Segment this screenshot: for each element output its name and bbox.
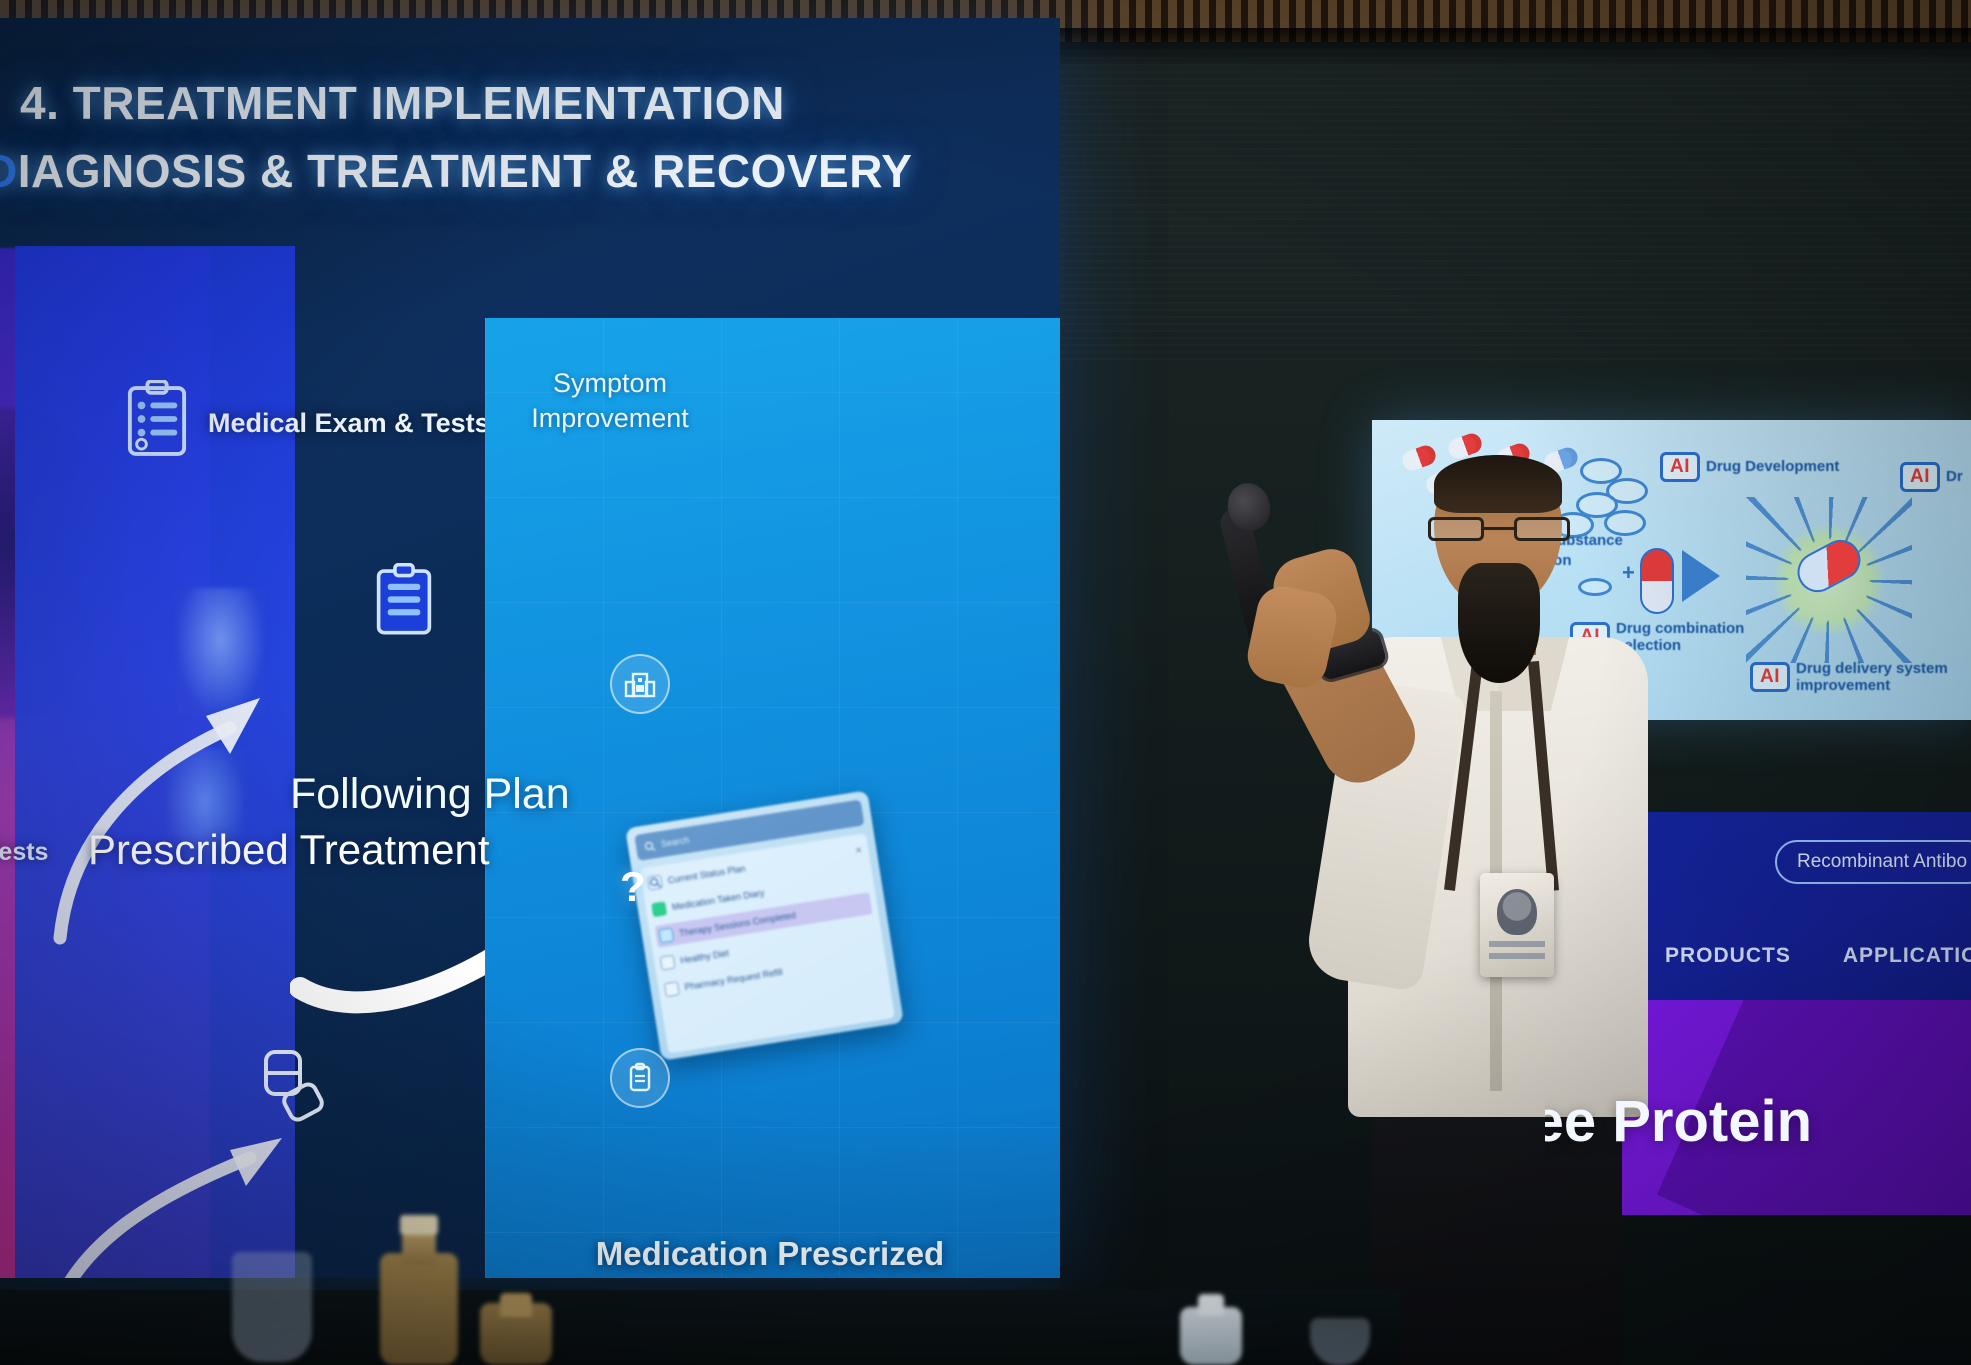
slide-caption: Medication Prescrized Recovery & Follow-… xyxy=(560,1233,980,1278)
glasses-bridge xyxy=(1484,527,1514,530)
presenter-id-badge xyxy=(1480,873,1554,977)
water-bottle xyxy=(380,1215,458,1365)
label-symptom-line1: Symptom xyxy=(505,366,715,401)
ai-badge: AI xyxy=(1900,462,1940,492)
conference-room-scene: 4. TREATMENT IMPLEMENTATION DIAGNOSIS & … xyxy=(0,0,1971,1365)
bottle-neck xyxy=(1198,1294,1224,1316)
glass-body xyxy=(1310,1318,1370,1365)
search-icon xyxy=(647,875,663,891)
ai-badge: AI xyxy=(1660,452,1700,482)
bottle-neck xyxy=(402,1231,436,1265)
ai-badge: AI xyxy=(1750,662,1790,692)
lens-right xyxy=(1514,517,1570,541)
label-prescribed-treatment: Prescribed Treatment xyxy=(88,826,490,874)
clipboard-small-icon xyxy=(610,1048,670,1108)
label-following-plan: Following Plan xyxy=(290,770,570,819)
bottle-neck xyxy=(500,1293,532,1317)
runner-figure-1 xyxy=(175,588,265,718)
recombinant-antibody-tag[interactable]: Recombinant Antibo xyxy=(1775,840,1971,884)
caption-line1: Medication Prescrized xyxy=(560,1233,980,1276)
drinking-glass xyxy=(1310,1318,1370,1365)
lens-left xyxy=(1428,517,1484,541)
hospital-building-icon xyxy=(610,654,670,714)
search-icon xyxy=(643,840,656,853)
ai-label-text: Drug delivery system improvement xyxy=(1796,660,1956,695)
photo-grid-overlay xyxy=(485,318,1060,1278)
slide-title-line2-rest: IAGNOSIS & TREATMENT & RECOVERY xyxy=(18,145,913,197)
label-symptom-improvement: Symptom Improvement xyxy=(505,366,715,435)
nav-item-applications[interactable]: APPLICATIONS xyxy=(1843,944,1971,968)
presenter-hair xyxy=(1434,455,1562,513)
tablet-device[interactable]: Search Current Status Plan ✕ Medication … xyxy=(625,790,904,1060)
water-bottle xyxy=(480,1285,552,1365)
label-medical-exam-tests: Medical Exam & Tests xyxy=(208,408,490,439)
banner-title: ree Protein xyxy=(1545,1088,1812,1155)
wall-texture xyxy=(1060,30,1971,360)
tablet-search-placeholder: Search xyxy=(660,835,690,849)
close-icon[interactable]: ✕ xyxy=(854,844,863,856)
ai-label-partial: AI Dr xyxy=(1900,462,1963,492)
slide-title-line1: 4. TREATMENT IMPLEMENTATION xyxy=(20,76,1020,130)
ai-label-text: Dr xyxy=(1946,468,1963,485)
ai-label-text: Drug Development xyxy=(1706,458,1839,475)
caption-line2: Recovery & Follow-up xyxy=(560,1276,980,1278)
slide-title-line2: DIAGNOSIS & TREATMENT & RECOVERY xyxy=(0,144,1020,198)
pill-capsule-icon xyxy=(260,1048,330,1128)
clipboard-small-icon xyxy=(375,563,433,637)
label-question-mark: ? xyxy=(620,863,646,911)
main-projection-screen: 4. TREATMENT IMPLEMENTATION DIAGNOSIS & … xyxy=(0,18,1060,1278)
checkbox-empty-icon[interactable] xyxy=(664,981,680,997)
checkbox-empty-icon[interactable] xyxy=(660,955,676,971)
slide-title-accent-letter: D xyxy=(0,145,18,197)
bottle-cap xyxy=(400,1215,438,1235)
bottle-body xyxy=(380,1253,458,1365)
arrow-right-icon xyxy=(1682,550,1720,602)
ai-label-drug-development: AI Drug Development xyxy=(1660,452,1839,482)
presenter-person xyxy=(1330,455,1650,1365)
clipboard-checklist-icon xyxy=(126,380,188,458)
eyeglasses-icon xyxy=(1426,517,1574,543)
drinking-glass xyxy=(232,1252,306,1365)
tablet-checklist[interactable]: Current Status Plan ✕ Medication Taken D… xyxy=(640,833,895,1054)
label-symptom-line2: Improvement xyxy=(505,401,715,436)
presenter-beard xyxy=(1458,563,1540,683)
ai-label-drug-delivery: AI Drug delivery system improvement xyxy=(1750,660,1956,695)
glass-body xyxy=(232,1252,312,1362)
slide-title: 4. TREATMENT IMPLEMENTATION DIAGNOSIS & … xyxy=(20,76,1020,198)
patient-photo-card xyxy=(485,318,1060,1278)
nav-item-products[interactable]: PRODUCTS xyxy=(1665,944,1791,968)
cut-label-tests: & Tests xyxy=(0,838,48,867)
water-bottle xyxy=(1180,1290,1242,1365)
checkbox-checked-alt-icon[interactable] xyxy=(658,927,674,943)
checkbox-checked-icon[interactable] xyxy=(651,901,667,917)
